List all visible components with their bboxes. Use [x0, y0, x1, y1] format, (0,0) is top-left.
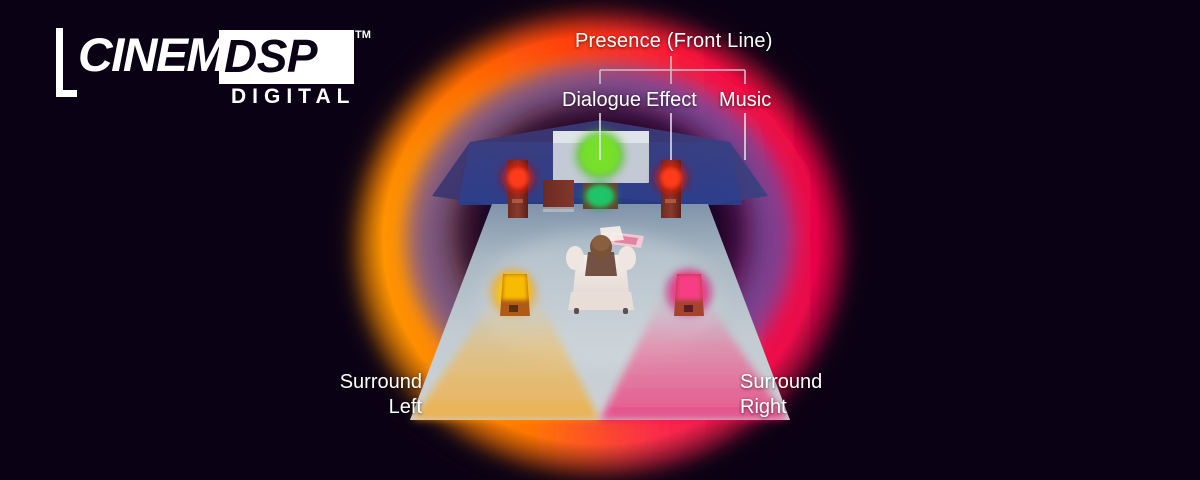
- surround-right-label-line1: Surround: [740, 370, 870, 395]
- chair-seat: [568, 292, 634, 310]
- cabinet-base: [543, 207, 574, 212]
- front-left-speaker-port: [512, 199, 523, 203]
- logo-bracket: [56, 28, 77, 97]
- logo-trademark-icon: TM: [355, 29, 371, 41]
- surround-right-port: [684, 305, 693, 312]
- chair-caster-left: [574, 308, 579, 314]
- surround-left-speaker: [487, 266, 539, 318]
- surround-left-face-glow: [502, 274, 528, 300]
- cinema-dsp-logo: CINEMA DSP TM DIGITAL: [56, 28, 366, 110]
- center-speaker: [580, 181, 620, 211]
- cinema-dsp-diagram: CINEMA DSP TM DIGITAL Presence (Front Li…: [0, 0, 1200, 480]
- front-right-speaker-port: [665, 199, 676, 203]
- surround-right-speaker: [663, 266, 715, 318]
- chair-arm-left: [566, 246, 584, 270]
- surround-left-label: Surround Left: [312, 370, 422, 420]
- listener-hair: [592, 235, 610, 251]
- presence-title: Presence (Front Line): [575, 30, 773, 53]
- logo-word-digital: DIGITAL: [231, 86, 355, 107]
- surround-right-face-glow: [676, 274, 702, 300]
- chair-caster-right: [623, 308, 628, 314]
- channel-label-music: Music: [719, 89, 771, 112]
- cabinet-body: [543, 180, 574, 209]
- surround-left-label-line2: Left: [312, 395, 422, 420]
- chair-arm-right: [618, 246, 636, 270]
- center-speaker-glow-core: [587, 186, 613, 206]
- surround-right-label-line2: Right: [740, 395, 870, 420]
- surround-left-port: [509, 305, 518, 312]
- channel-label-effect: Effect: [646, 89, 697, 112]
- surround-left-label-line1: Surround: [312, 370, 422, 395]
- av-cabinet: [543, 180, 574, 212]
- front-left-speaker-glow-core: [509, 169, 527, 187]
- surround-right-label: Surround Right: [740, 370, 870, 420]
- front-right-speaker-glow-core: [662, 169, 680, 187]
- logo-word-dsp: DSP: [224, 33, 317, 79]
- projection-screen: [553, 128, 649, 183]
- channel-label-dialogue: Dialogue: [562, 89, 641, 112]
